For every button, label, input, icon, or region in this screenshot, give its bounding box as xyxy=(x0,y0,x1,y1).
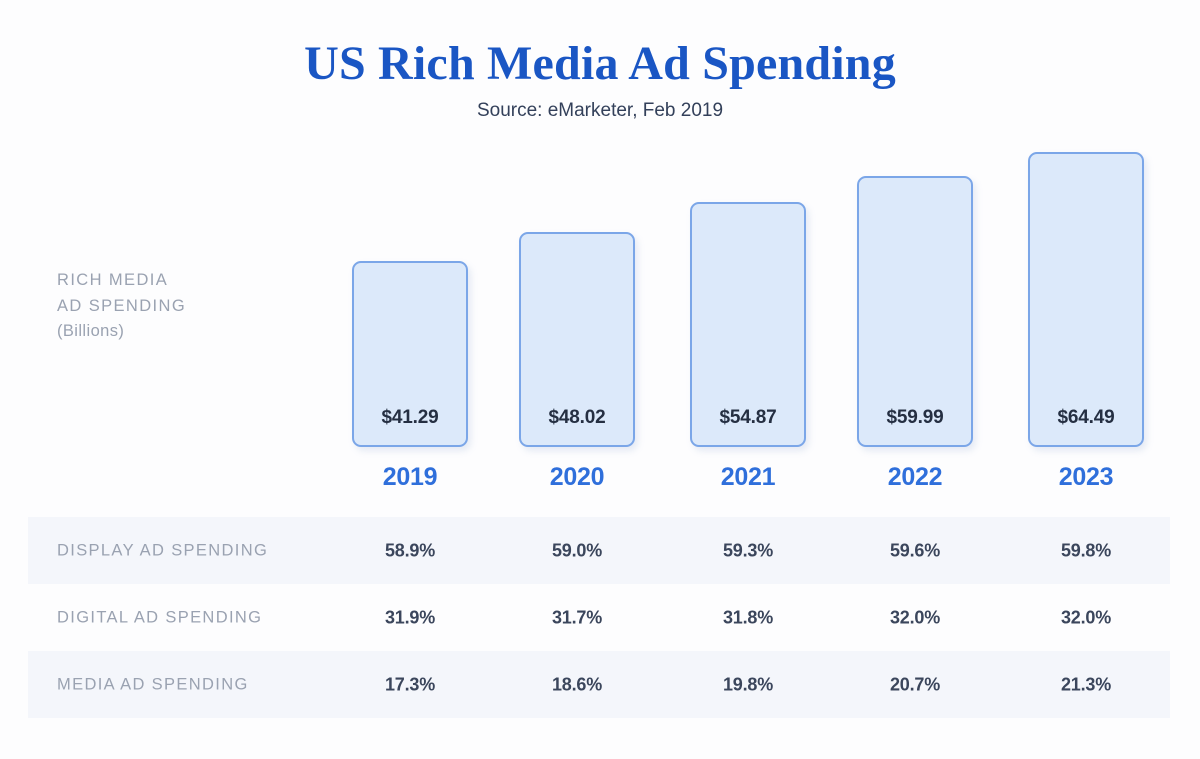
table-row: MEDIA AD SPENDING17.3%18.6%19.8%20.7%21.… xyxy=(28,651,1170,718)
page-title: US Rich Media Ad Spending xyxy=(0,0,1200,88)
table-row-label: DIGITAL AD SPENDING xyxy=(57,608,262,627)
chart-bar[interactable]: $59.99 xyxy=(857,176,973,447)
bar-group: $59.992022 xyxy=(857,176,973,447)
bar-year-label: 2021 xyxy=(690,463,806,492)
table-cell: 31.7% xyxy=(519,607,635,628)
table-cell: 32.0% xyxy=(857,607,973,628)
bar-value-label: $59.99 xyxy=(859,407,971,429)
table-cell: 59.8% xyxy=(1028,540,1144,561)
table-cell: 31.8% xyxy=(690,607,806,628)
table-cell: 20.7% xyxy=(857,674,973,695)
table-cell: 32.0% xyxy=(1028,607,1144,628)
chart-bar[interactable]: $54.87 xyxy=(690,202,806,447)
bar-year-label: 2019 xyxy=(352,463,468,492)
table-cell: 58.9% xyxy=(352,540,468,561)
chart-bar[interactable]: $64.49 xyxy=(1028,152,1144,447)
table-cell: 18.6% xyxy=(519,674,635,695)
infographic-canvas: US Rich Media Ad Spending Source: eMarke… xyxy=(0,0,1200,759)
bar-group: $48.022020 xyxy=(519,232,635,447)
data-table: DISPLAY AD SPENDING58.9%59.0%59.3%59.6%5… xyxy=(28,517,1170,718)
chart-source-subtitle: Source: eMarketer, Feb 2019 xyxy=(0,88,1200,122)
bar-value-label: $64.49 xyxy=(1030,407,1142,429)
table-row: DIGITAL AD SPENDING31.9%31.7%31.8%32.0%3… xyxy=(28,584,1170,651)
chart-bar[interactable]: $41.29 xyxy=(352,261,468,447)
bar-group: $41.292019 xyxy=(352,261,468,447)
table-cell: 31.9% xyxy=(352,607,468,628)
table-cell: 19.8% xyxy=(690,674,806,695)
table-cell: 59.0% xyxy=(519,540,635,561)
table-cell: 21.3% xyxy=(1028,674,1144,695)
bar-group: $64.492023 xyxy=(1028,152,1144,447)
table-cell: 17.3% xyxy=(352,674,468,695)
table-cell: 59.6% xyxy=(857,540,973,561)
bar-group: $54.872021 xyxy=(690,202,806,447)
bar-value-label: $48.02 xyxy=(521,407,633,429)
table-row-label: DISPLAY AD SPENDING xyxy=(57,541,268,560)
table-cell: 59.3% xyxy=(690,540,806,561)
chart-bar[interactable]: $48.02 xyxy=(519,232,635,447)
table-row: DISPLAY AD SPENDING58.9%59.0%59.3%59.6%5… xyxy=(28,517,1170,584)
bar-year-label: 2022 xyxy=(857,463,973,492)
table-row-label: MEDIA AD SPENDING xyxy=(57,675,249,694)
bar-chart-plot-area: $41.292019$48.022020$54.872021$59.992022… xyxy=(0,140,1200,510)
chart-header: US Rich Media Ad Spending Source: eMarke… xyxy=(0,0,1200,122)
bar-year-label: 2020 xyxy=(519,463,635,492)
bar-value-label: $54.87 xyxy=(692,407,804,429)
bar-value-label: $41.29 xyxy=(354,407,466,429)
bar-year-label: 2023 xyxy=(1028,463,1144,492)
